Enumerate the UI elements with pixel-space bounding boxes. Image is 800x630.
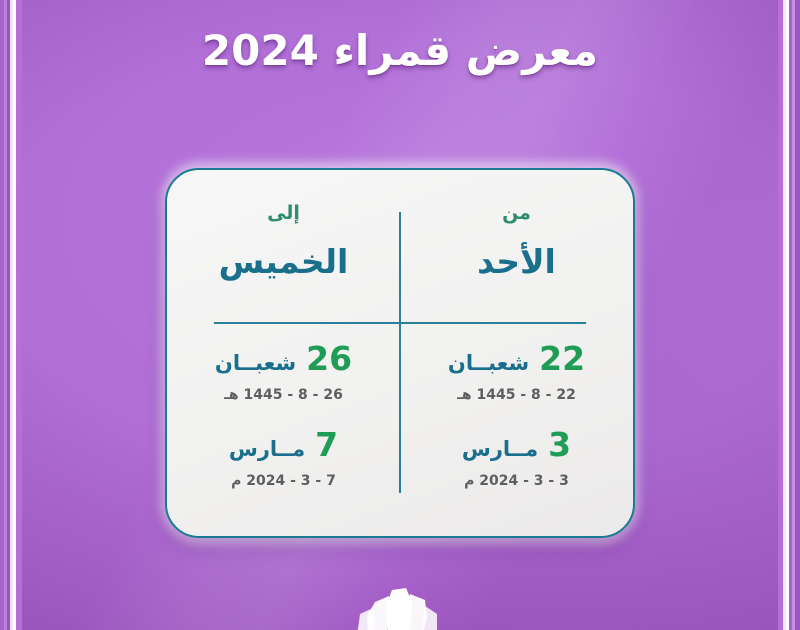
from-gregorian-month: مــارس <box>462 439 538 460</box>
from-gregorian-date: 3 مــارس 3 - 3 - 2024 م <box>400 428 633 489</box>
to-gregorian-date: 7 مــارس 7 - 3 - 2024 م <box>167 428 400 489</box>
from-hijri-month: شعبــان <box>448 353 529 374</box>
from-hijri-date: 22 شعبــان 22 - 8 - 1445 هـ <box>400 342 633 403</box>
from-gregorian-main: 3 مــارس <box>400 428 633 461</box>
from-gregorian-full: 3 - 3 - 2024 م <box>400 473 633 489</box>
to-hijri-main: 26 شعبــان <box>167 342 400 375</box>
from-hijri-main: 22 شعبــان <box>400 342 633 375</box>
to-hijri-day: 26 <box>306 342 352 375</box>
column-to: إلى الخميس 26 شعبــان 26 - 8 - 1445 هـ 7… <box>167 170 400 536</box>
from-hijri-day: 22 <box>539 342 585 375</box>
card-body: من الأحد 22 شعبــان 22 - 8 - 1445 هـ 3 م… <box>165 168 635 538</box>
to-gregorian-month: مــارس <box>229 439 305 460</box>
page-title: معرض قمراء 2024 <box>0 26 800 75</box>
vertical-divider <box>399 212 401 493</box>
from-label: من <box>502 204 531 223</box>
poster-canvas: معرض قمراء 2024 من الأحد 22 شعبــان 22 -… <box>0 0 800 630</box>
column-from: من الأحد 22 شعبــان 22 - 8 - 1445 هـ 3 م… <box>400 170 633 536</box>
from-gregorian-day: 3 <box>548 428 571 461</box>
date-range-card: من الأحد 22 شعبــان 22 - 8 - 1445 هـ 3 م… <box>165 168 635 538</box>
to-hijri-date: 26 شعبــان 26 - 8 - 1445 هـ <box>167 342 400 403</box>
to-day-name: الخميس <box>219 245 349 278</box>
to-gregorian-full: 7 - 3 - 2024 م <box>167 473 400 489</box>
from-day-name: الأحد <box>477 245 556 278</box>
to-hijri-month: شعبــان <box>215 353 296 374</box>
to-gregorian-main: 7 مــارس <box>167 428 400 461</box>
horizontal-divider <box>214 322 586 324</box>
to-gregorian-day: 7 <box>315 428 338 461</box>
from-hijri-full: 22 - 8 - 1445 هـ <box>400 387 633 403</box>
to-hijri-full: 26 - 8 - 1445 هـ <box>167 387 400 403</box>
to-label: إلى <box>267 204 300 223</box>
